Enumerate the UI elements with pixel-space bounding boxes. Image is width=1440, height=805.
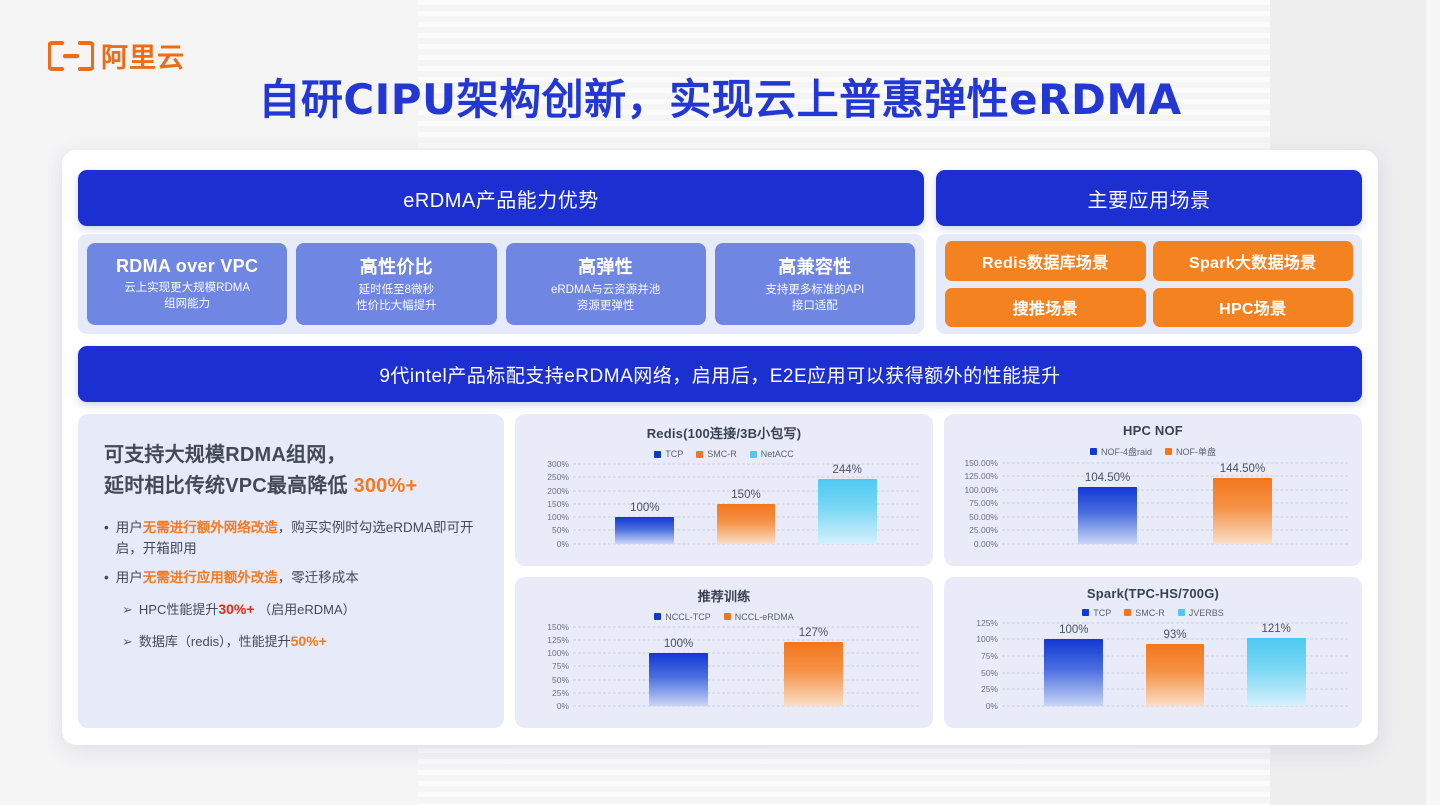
legend-item: NCCL-eRDMA — [724, 612, 794, 622]
bar-value-label: 244% — [832, 464, 861, 476]
y-axis-tick-label: 100% — [547, 648, 569, 658]
legend-swatch-icon — [1178, 609, 1185, 616]
feature-card-subtitle: eRDMA与云资源并池资源更弹性 — [551, 283, 660, 314]
summary-bullet-highlight: 无需进行额外网络改造 — [143, 520, 278, 535]
scenario-chip[interactable]: Redis数据库场景 — [945, 241, 1146, 281]
legend-swatch-icon — [1090, 448, 1097, 455]
chart-grid: Redis(100连接/3B小包写)TCPSMC-RNetACC0%50%100… — [515, 414, 1362, 728]
bar-column[interactable]: 93% — [1146, 623, 1205, 707]
bar[interactable] — [1044, 639, 1103, 706]
feature-card-subtitle-line1: 延时低至8微秒 — [356, 283, 437, 299]
legend-label: NetACC — [761, 449, 794, 459]
scenario-chip[interactable]: HPC场景 — [1153, 288, 1354, 328]
y-axis-tick-label: 200% — [547, 486, 569, 496]
bar-column[interactable]: 150% — [717, 464, 776, 544]
feature-card-subtitle-line1: 云上实现更大规模RDMA — [124, 281, 250, 297]
y-axis-tick-label: 300% — [547, 459, 569, 469]
legend-label: SMC-R — [707, 449, 737, 459]
bar-chart: HPC NOFNOF-4盘raidNOF-单盘0.00%25.00%50.00%… — [944, 414, 1362, 566]
scenario-chip-strip: Redis数据库场景Spark大数据场景搜推场景HPC场景 — [936, 234, 1362, 334]
bar-column[interactable]: 127% — [784, 627, 843, 707]
legend-label: JVERBS — [1189, 608, 1224, 618]
summary-subitem: ➢数据库（redis），性能提升50%+ — [122, 631, 480, 650]
y-axis-tick-label: 0% — [557, 701, 569, 711]
legend-swatch-icon — [696, 451, 703, 458]
chart-title: HPC NOF — [954, 423, 1352, 438]
bar-value-label: 100% — [630, 502, 659, 514]
summary-subitem: ➢HPC性能提升30%+ （启用eRDMA） — [122, 599, 480, 618]
y-axis-tick-label: 0% — [557, 539, 569, 549]
y-axis-tick-label: 150.00% — [964, 458, 998, 468]
page-title: 自研CIPU架构创新，实现云上普惠弹性eRDMA — [0, 66, 1440, 127]
bar[interactable] — [818, 479, 877, 544]
y-axis-tick-label: 250% — [547, 472, 569, 482]
y-axis-tick-label: 50% — [981, 668, 998, 678]
y-axis-tick-label: 25% — [981, 684, 998, 694]
legend-item: TCP — [654, 449, 683, 459]
legend-item: NetACC — [750, 449, 794, 459]
chart-plot-area: 0%25%50%75%100%125%100%93%121% — [954, 623, 1352, 723]
scenario-chip[interactable]: 搜推场景 — [945, 288, 1146, 328]
y-axis-tick-label: 100% — [547, 512, 569, 522]
chart-bars: 104.50%144.50% — [1002, 463, 1348, 544]
y-axis-tick-label: 25% — [552, 688, 569, 698]
scenario-chip[interactable]: Spark大数据场景 — [1153, 241, 1354, 281]
summary-bullet: •用户无需进行额外网络改造，购买实例时勾选eRDMA即可开启，开箱即用 — [104, 518, 480, 559]
bar[interactable] — [1213, 478, 1272, 544]
summary-sub-list: ➢HPC性能提升30%+ （启用eRDMA）➢数据库（redis），性能提升50… — [104, 599, 480, 650]
chart-bars: 100%93%121% — [1002, 623, 1348, 707]
bar-value-label: 144.50% — [1220, 463, 1265, 475]
bar-value-label: 100% — [1059, 624, 1088, 636]
y-axis-tick-label: 100.00% — [964, 485, 998, 495]
chart-bars: 100%150%244% — [573, 464, 919, 544]
bar-column[interactable]: 121% — [1247, 623, 1306, 707]
legend-swatch-icon — [1082, 609, 1089, 616]
legend-swatch-icon — [724, 613, 731, 620]
chart-legend: TCPSMC-RJVERBS — [954, 608, 1352, 618]
legend-label: NOF-单盘 — [1176, 445, 1216, 458]
bar[interactable] — [1146, 644, 1205, 706]
chart-title: Redis(100连接/3B小包写) — [525, 423, 923, 442]
bullet-dot-icon: • — [104, 518, 109, 559]
feature-card-subtitle-line2: 资源更弹性 — [551, 299, 660, 315]
legend-item: NCCL-TCP — [654, 612, 711, 622]
y-axis-tick-label: 50% — [552, 675, 569, 685]
legend-label: NCCL-eRDMA — [735, 612, 794, 622]
legend-label: SMC-R — [1135, 608, 1165, 618]
y-axis-labels: 0%50%100%150%200%250%300% — [525, 464, 573, 544]
y-axis-tick-label: 125.00% — [964, 471, 998, 481]
y-axis-tick-label: 125% — [976, 618, 998, 628]
legend-label: NCCL-TCP — [665, 612, 711, 622]
bar-column[interactable]: 100% — [649, 627, 708, 707]
feature-card-subtitle-line1: eRDMA与云资源并池 — [551, 283, 660, 299]
summary-heading-line2-text: 延时相比传统VPC最高降低 — [104, 475, 348, 497]
bar[interactable] — [717, 504, 776, 544]
chart-plot-area: 0.00%25.00%50.00%75.00%100.00%125.00%150… — [954, 463, 1352, 560]
bar-chart: Spark(TPC-HS/700G)TCPSMC-RJVERBS0%25%50%… — [944, 577, 1362, 729]
y-axis-tick-label: 150% — [547, 499, 569, 509]
bar-value-label: 93% — [1163, 629, 1186, 641]
feature-card[interactable]: 高兼容性支持更多标准的API接口适配 — [715, 243, 915, 325]
feature-card-subtitle: 云上实现更大规模RDMA组网能力 — [124, 281, 250, 312]
feature-card-subtitle: 延时低至8微秒性价比大幅提升 — [356, 283, 437, 314]
bar-column[interactable]: 144.50% — [1213, 463, 1272, 544]
y-axis-tick-label: 25.00% — [969, 525, 998, 535]
summary-subitem-value: 50%+ — [291, 633, 327, 649]
bar-value-label: 121% — [1261, 623, 1290, 635]
bar-column[interactable]: 244% — [818, 464, 877, 544]
bar-value-label: 127% — [799, 627, 828, 639]
bar-value-label: 150% — [731, 489, 760, 501]
chart-legend: TCPSMC-RNetACC — [525, 449, 923, 459]
chart-plot-area: 0%50%100%150%200%250%300%100%150%244% — [525, 464, 923, 560]
legend-label: TCP — [1093, 608, 1111, 618]
summary-heading-line2: 延时相比传统VPC最高降低 300%+ — [104, 471, 480, 502]
chart-title: 推荐训练 — [525, 586, 923, 605]
feature-card[interactable]: RDMA over VPC云上实现更大规模RDMA组网能力 — [87, 243, 287, 325]
bar-column[interactable]: 100% — [1044, 623, 1103, 707]
feature-card-subtitle-line2: 组网能力 — [124, 297, 250, 313]
banner-product-advantages: eRDMA产品能力优势 — [78, 170, 924, 226]
legend-swatch-icon — [654, 451, 661, 458]
chart-legend: NOF-4盘raidNOF-单盘 — [954, 445, 1352, 458]
banner-use-scenarios: 主要应用场景 — [936, 170, 1362, 226]
feature-card-title: 高性价比 — [360, 253, 433, 279]
bar-chart: 推荐训练NCCL-TCPNCCL-eRDMA0%25%50%75%100%125… — [515, 577, 933, 729]
legend-item: JVERBS — [1178, 608, 1224, 618]
bullet-dot-icon: • — [104, 568, 109, 589]
y-axis-labels: 0.00%25.00%50.00%75.00%100.00%125.00%150… — [954, 463, 1002, 544]
summary-subitem-value: 30%+ — [218, 601, 254, 617]
bottom-section: 可支持大规模RDMA组网， 延时相比传统VPC最高降低 300%+ •用户无需进… — [78, 414, 1362, 728]
summary-panel: 可支持大规模RDMA组网， 延时相比传统VPC最高降低 300%+ •用户无需进… — [78, 414, 504, 728]
bar[interactable] — [1078, 487, 1137, 543]
y-axis-labels: 0%25%50%75%100%125%150% — [525, 627, 573, 707]
summary-heading-highlight: 300%+ — [354, 475, 418, 497]
feature-card-title: 高兼容性 — [778, 253, 851, 279]
bar[interactable] — [1247, 638, 1306, 707]
feature-card-title: RDMA over VPC — [116, 256, 258, 277]
bar[interactable] — [615, 517, 674, 544]
feature-card-subtitle: 支持更多标准的API接口适配 — [765, 283, 864, 314]
summary-heading-line1: 可支持大规模RDMA组网， — [104, 440, 480, 471]
bar-column[interactable]: 100% — [615, 464, 674, 544]
summary-bullet-list: •用户无需进行额外网络改造，购买实例时勾选eRDMA即可开启，开箱即用•用户无需… — [104, 518, 480, 589]
bar[interactable] — [784, 642, 843, 707]
bar-value-label: 104.50% — [1085, 472, 1130, 484]
y-axis-tick-label: 50% — [552, 525, 569, 535]
bar-chart: Redis(100连接/3B小包写)TCPSMC-RNetACC0%50%100… — [515, 414, 933, 566]
slide-header: 阿里云 自研CIPU架构创新，实现云上普惠弹性eRDMA — [0, 0, 1440, 150]
summary-bullet-text: 用户无需进行额外网络改造，购买实例时勾选eRDMA即可开启，开箱即用 — [116, 518, 480, 559]
summary-bullet: •用户无需进行应用额外改造，零迁移成本 — [104, 568, 480, 589]
feature-card-strip: RDMA over VPC云上实现更大规模RDMA组网能力高性价比延时低至8微秒… — [78, 234, 924, 334]
feature-card-subtitle-line2: 性价比大幅提升 — [356, 299, 437, 315]
y-axis-tick-label: 0% — [986, 701, 998, 711]
feature-card-subtitle-line2: 接口适配 — [765, 299, 864, 315]
y-axis-tick-label: 75.00% — [969, 498, 998, 508]
bar-value-label: 100% — [664, 638, 693, 650]
legend-item: SMC-R — [1124, 608, 1165, 618]
legend-label: TCP — [665, 449, 683, 459]
legend-item: NOF-4盘raid — [1090, 445, 1152, 458]
y-axis-tick-label: 50.00% — [969, 512, 998, 522]
feature-card[interactable]: 高性价比延时低至8微秒性价比大幅提升 — [296, 243, 496, 325]
summary-heading: 可支持大规模RDMA组网， 延时相比传统VPC最高降低 300%+ — [104, 440, 480, 502]
banner-intel-support: 9代intel产品标配支持eRDMA网络，启用后，E2E应用可以获得额外的性能提… — [78, 346, 1362, 402]
legend-item: SMC-R — [696, 449, 737, 459]
summary-bullet-highlight: 无需进行应用额外改造 — [143, 570, 278, 585]
chart-title: Spark(TPC-HS/700G) — [954, 586, 1352, 601]
chart-plot-area: 0%25%50%75%100%125%150%100%127% — [525, 627, 923, 723]
chevron-right-icon: ➢ — [122, 602, 133, 617]
feature-card-subtitle-line1: 支持更多标准的API — [765, 283, 864, 299]
chevron-right-icon: ➢ — [122, 634, 133, 649]
chart-legend: NCCL-TCPNCCL-eRDMA — [525, 612, 923, 622]
legend-swatch-icon — [654, 613, 661, 620]
y-axis-tick-label: 150% — [547, 622, 569, 632]
bar-column[interactable]: 104.50% — [1078, 463, 1137, 544]
summary-bullet-text: 用户无需进行应用额外改造，零迁移成本 — [116, 568, 359, 589]
legend-item: TCP — [1082, 608, 1111, 618]
bar[interactable] — [649, 653, 708, 706]
legend-label: NOF-4盘raid — [1101, 445, 1152, 458]
y-axis-tick-label: 125% — [547, 635, 569, 645]
feature-card[interactable]: 高弹性eRDMA与云资源并池资源更弹性 — [506, 243, 706, 325]
feature-card-title: 高弹性 — [578, 253, 633, 279]
y-axis-tick-label: 75% — [981, 651, 998, 661]
y-axis-labels: 0%25%50%75%100%125% — [954, 623, 1002, 707]
legend-swatch-icon — [750, 451, 757, 458]
y-axis-tick-label: 100% — [976, 634, 998, 644]
content-card: eRDMA产品能力优势 主要应用场景 RDMA over VPC云上实现更大规模… — [62, 150, 1378, 745]
legend-swatch-icon — [1124, 609, 1131, 616]
y-axis-tick-label: 0.00% — [974, 539, 998, 549]
legend-swatch-icon — [1165, 448, 1172, 455]
legend-item: NOF-单盘 — [1165, 445, 1216, 458]
chart-bars: 100%127% — [573, 627, 919, 707]
y-axis-tick-label: 75% — [552, 661, 569, 671]
